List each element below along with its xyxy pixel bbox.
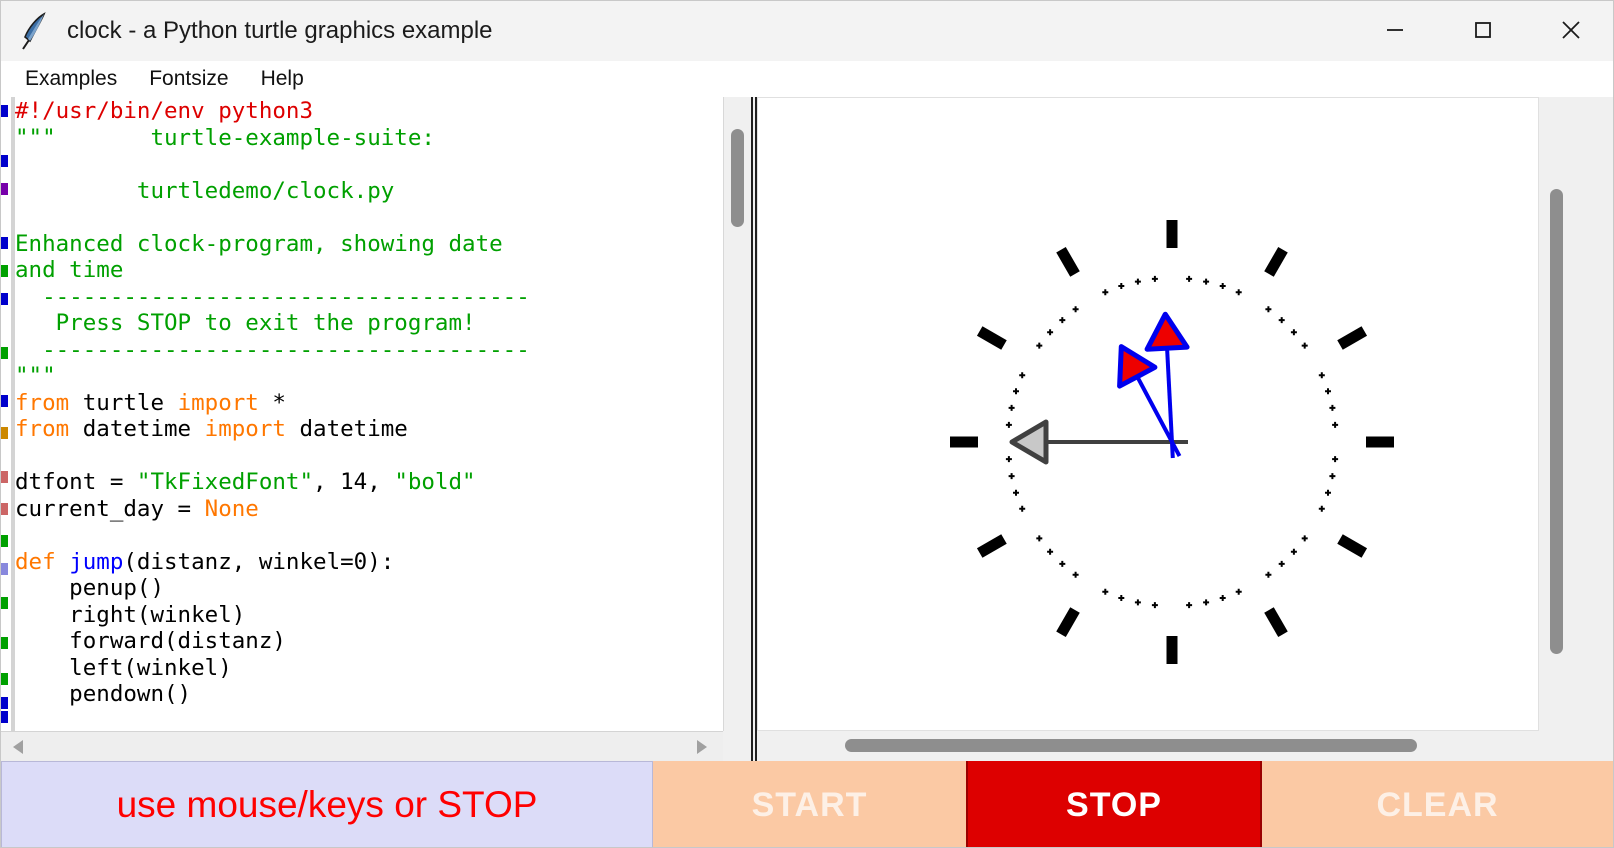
minute-mark	[1186, 276, 1192, 282]
code-line: right(winkel)	[15, 602, 705, 629]
code-line	[15, 204, 705, 231]
minute-mark	[1332, 422, 1338, 428]
code-token: #!/usr/bin/env python3	[15, 98, 313, 124]
code-token: ------------------------------------	[15, 284, 530, 310]
minute-mark	[1006, 422, 1012, 428]
gutter-mark	[1, 597, 8, 609]
code-line	[15, 522, 705, 549]
minute-mark	[1118, 283, 1124, 289]
minute-mark	[1047, 549, 1053, 555]
minute-mark	[1325, 490, 1331, 496]
code-token: jump	[69, 549, 123, 575]
minute-mark	[1036, 535, 1042, 541]
code-token: from	[15, 390, 83, 416]
minute-mark	[1186, 602, 1192, 608]
minute-mark	[1236, 589, 1242, 595]
editor-gutter-minimap	[1, 97, 11, 731]
minute-mark	[1265, 572, 1271, 578]
code-token: def	[15, 549, 69, 575]
source-code-text[interactable]: #!/usr/bin/env python3""" turtle-example…	[15, 97, 705, 731]
code-line: current_day = None	[15, 496, 705, 523]
code-line: def jump(distanz, winkel=0):	[15, 549, 705, 576]
hour-mark	[980, 331, 1004, 345]
minute-mark	[1291, 329, 1297, 335]
minute-mark	[1019, 506, 1025, 512]
hour-mark	[1269, 610, 1283, 634]
code-token: right(winkel)	[15, 602, 245, 628]
code-token: ------------------------------------	[15, 337, 530, 363]
gutter-mark	[1, 471, 8, 483]
code-line: turtledemo/clock.py	[15, 178, 705, 205]
minute-mark	[1329, 405, 1335, 411]
code-token: penup()	[15, 575, 164, 601]
menu-bar: Examples Fontsize Help	[1, 61, 1614, 98]
menu-item-examples[interactable]: Examples	[15, 67, 127, 91]
code-vertical-scrollbar[interactable]	[723, 97, 751, 731]
main-split-pane: #!/usr/bin/env python3""" turtle-example…	[1, 97, 1614, 761]
code-line: """ turtle-example-suite:	[15, 125, 705, 152]
minute-mark	[1302, 535, 1308, 541]
minimize-icon[interactable]	[1351, 1, 1439, 59]
minute-mark	[1220, 283, 1226, 289]
code-token: "TkFixedFont"	[137, 469, 313, 495]
code-token: (distanz, winkel=0):	[123, 549, 394, 575]
code-token: and time	[15, 257, 123, 283]
gutter-mark	[1, 637, 8, 649]
code-line: ------------------------------------	[15, 284, 705, 311]
minute-mark	[1319, 506, 1325, 512]
canvas-vertical-scrollbar-thumb[interactable]	[1550, 189, 1563, 654]
minute-mark	[1135, 279, 1141, 285]
gutter-mark	[1, 183, 8, 195]
minute-mark	[1009, 473, 1015, 479]
gutter-mark	[1, 293, 8, 305]
maximize-icon[interactable]	[1439, 1, 1527, 59]
gutter-mark	[1, 711, 8, 723]
minute-mark	[1135, 599, 1141, 605]
code-vertical-scrollbar-thumb[interactable]	[731, 129, 744, 227]
code-token: Press STOP to exit the program!	[15, 310, 476, 336]
minute-mark	[1059, 561, 1065, 567]
code-token: forward(distanz)	[15, 628, 286, 654]
code-line	[15, 151, 705, 178]
gutter-mark	[1, 155, 8, 167]
minute-mark	[1073, 306, 1079, 312]
minute-mark	[1152, 276, 1158, 282]
hour-mark	[1269, 250, 1283, 274]
minute-mark	[1291, 549, 1297, 555]
gutter-mark	[1, 563, 8, 575]
gutter-mark	[1, 427, 8, 439]
code-line: pendown()	[15, 681, 705, 708]
clock-drawing	[758, 98, 1538, 730]
scroll-right-arrow-icon[interactable]	[697, 740, 707, 754]
hour-mark	[980, 539, 1004, 553]
gutter-mark	[1, 673, 8, 685]
code-line: forward(distanz)	[15, 628, 705, 655]
minute-mark	[1279, 561, 1285, 567]
code-editor-pane: #!/usr/bin/env python3""" turtle-example…	[1, 97, 723, 761]
minute-mark	[1265, 306, 1271, 312]
code-line: Press STOP to exit the program!	[15, 310, 705, 337]
code-token: dtfont =	[15, 469, 137, 495]
code-token: from	[15, 416, 83, 442]
code-token: left(winkel)	[15, 655, 232, 681]
minute-mark	[1152, 602, 1158, 608]
gutter-mark	[1, 237, 8, 249]
status-panel: use mouse/keys or STOP	[1, 761, 653, 848]
canvas-horizontal-scrollbar-thumb[interactable]	[845, 739, 1417, 752]
start-button[interactable]: START	[653, 761, 966, 848]
code-token: """	[15, 363, 56, 389]
minute-mark	[1319, 372, 1325, 378]
gutter-mark	[1, 105, 8, 117]
gutter-mark	[1, 535, 8, 547]
minute-mark	[1047, 329, 1053, 335]
close-icon[interactable]	[1527, 1, 1614, 59]
title-bar: clock - a Python turtle graphics example	[1, 1, 1614, 62]
code-line: #!/usr/bin/env python3	[15, 98, 705, 125]
clock-hands	[1012, 314, 1188, 462]
status-message: use mouse/keys or STOP	[117, 784, 538, 826]
window-title: clock - a Python turtle graphics example	[67, 17, 493, 45]
hour-mark	[1340, 331, 1364, 345]
menu-item-fontsize[interactable]: Fontsize	[139, 67, 238, 91]
code-token: import	[178, 390, 273, 416]
minute-mark	[1059, 317, 1065, 323]
window-controls	[1351, 1, 1614, 59]
minute-mark	[1236, 289, 1242, 295]
code-token: pendown()	[15, 681, 191, 707]
code-line: from turtle import *	[15, 390, 705, 417]
code-token: current_day =	[15, 496, 205, 522]
gutter-mark	[1, 265, 8, 277]
gutter-mark	[1, 503, 8, 515]
code-token: datetime	[299, 416, 407, 442]
code-token: "bold"	[394, 469, 475, 495]
scroll-left-arrow-icon[interactable]	[13, 740, 23, 754]
minute-mark	[1102, 289, 1108, 295]
code-line: Enhanced clock-program, showing date	[15, 231, 705, 258]
minute-mark	[1019, 372, 1025, 378]
code-token: """ turtle-example-suite:	[15, 125, 435, 151]
code-line: and time	[15, 257, 705, 284]
minute-mark	[1203, 599, 1209, 605]
canvas-horizontal-scrollbar[interactable]	[757, 731, 1614, 761]
gutter-mark	[1, 697, 8, 709]
minute-mark	[1013, 388, 1019, 394]
code-line: penup()	[15, 575, 705, 602]
minute-mark	[1006, 456, 1012, 462]
second-hand-arrow	[1012, 422, 1046, 462]
code-token: Enhanced clock-program, showing date	[15, 231, 503, 257]
code-token: import	[205, 416, 300, 442]
turtle-canvas-pane	[757, 97, 1614, 761]
turtle-canvas[interactable]	[757, 97, 1539, 731]
code-token: turtledemo/clock.py	[15, 178, 394, 204]
code-line: """	[15, 363, 705, 390]
minute-mark	[1332, 456, 1338, 462]
hour-mark	[1061, 610, 1075, 634]
code-line: from datetime import datetime	[15, 416, 705, 443]
code-token: datetime	[83, 416, 205, 442]
menu-item-help[interactable]: Help	[251, 67, 314, 91]
minute-mark	[1073, 572, 1079, 578]
minute-mark	[1203, 279, 1209, 285]
hour-mark	[1340, 539, 1364, 553]
clear-button[interactable]: CLEAR	[1262, 761, 1613, 848]
hour-mark	[1061, 250, 1075, 274]
code-horizontal-scrollbar[interactable]	[1, 731, 723, 761]
gutter-mark	[1, 395, 8, 407]
canvas-vertical-scrollbar[interactable]	[1543, 97, 1571, 731]
code-line: dtfont = "TkFixedFont", 14, "bold"	[15, 469, 705, 496]
minute-mark	[1325, 388, 1331, 394]
code-token: *	[272, 390, 286, 416]
minute-mark	[1220, 595, 1226, 601]
code-line: left(winkel)	[15, 655, 705, 682]
bottom-control-bar: use mouse/keys or STOP START STOP CLEAR	[1, 761, 1614, 848]
turtledemo-window: clock - a Python turtle graphics example…	[0, 0, 1614, 848]
minute-mark	[1329, 473, 1335, 479]
code-token: None	[205, 496, 259, 522]
minute-mark	[1013, 490, 1019, 496]
gutter-mark	[1, 347, 8, 359]
code-line	[15, 443, 705, 470]
minute-hand-arrow	[1147, 314, 1187, 349]
minute-mark	[1102, 589, 1108, 595]
minute-mark	[1302, 343, 1308, 349]
minute-mark	[1009, 405, 1015, 411]
python-feather-icon	[17, 11, 51, 51]
minute-mark	[1279, 317, 1285, 323]
stop-button[interactable]: STOP	[966, 761, 1262, 848]
code-token: turtle	[83, 390, 178, 416]
code-line: ------------------------------------	[15, 337, 705, 364]
minute-mark	[1036, 343, 1042, 349]
code-token: , 14,	[313, 469, 394, 495]
minute-mark	[1118, 595, 1124, 601]
